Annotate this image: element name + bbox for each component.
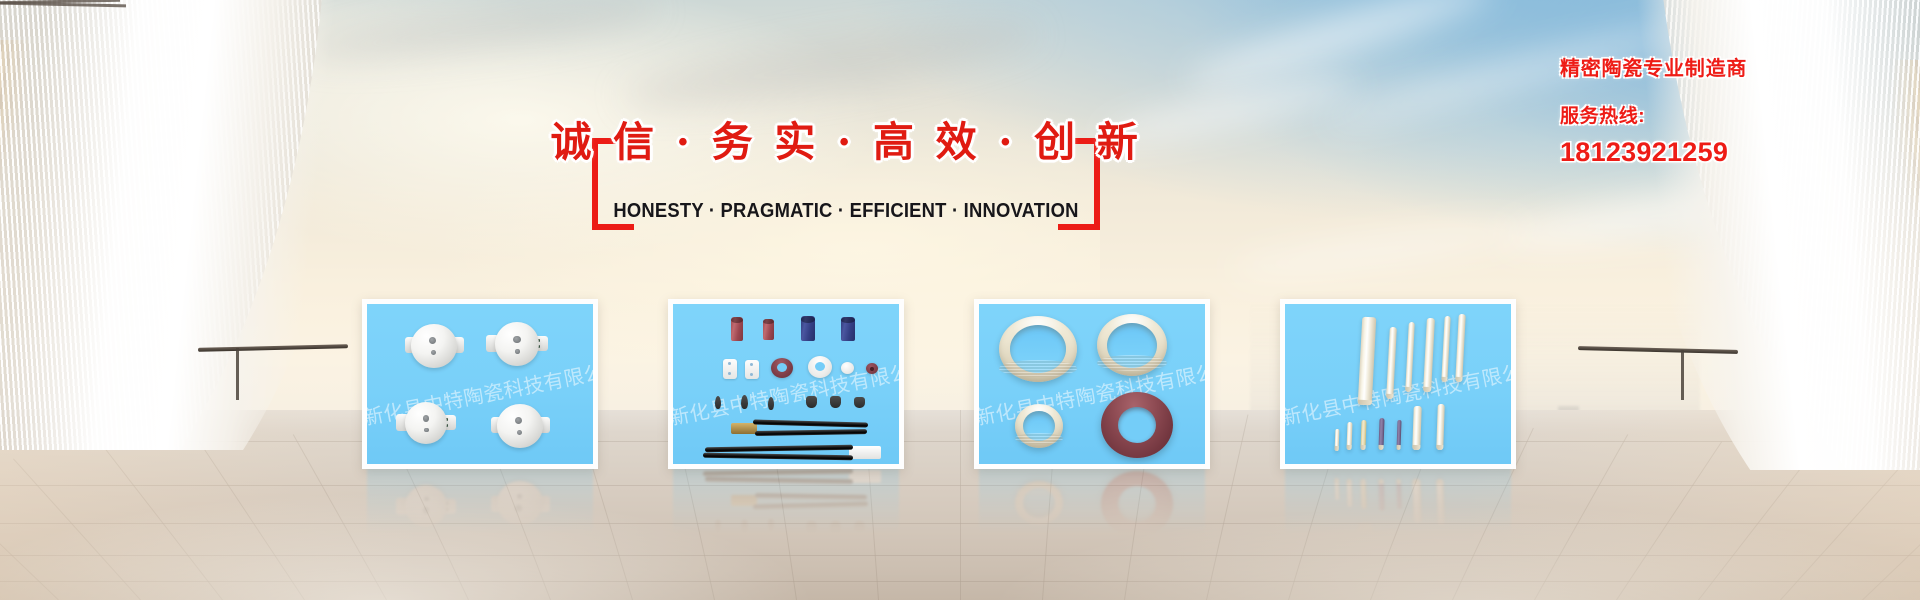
cable-connector-white: [849, 446, 881, 459]
ceramic-ring: [1097, 314, 1167, 376]
ceramic-tube: [731, 317, 743, 341]
ceramic-clip: [715, 396, 721, 409]
ceramic-clip: [768, 397, 774, 410]
cable-wire: [753, 419, 868, 427]
product-panel-rings[interactable]: 新化县中特陶瓷科技有限公司: [974, 299, 1210, 469]
plate-hole: [728, 362, 731, 365]
product-panel-tubes-cables[interactable]: 新化县中特陶瓷科技有限公司: [668, 299, 904, 469]
rod-tip: [1436, 445, 1443, 450]
ceramic-rod-small: [1378, 418, 1384, 450]
holder-body: [411, 324, 457, 368]
cable-connector: [731, 423, 757, 434]
rod-tip: [1412, 445, 1420, 450]
panel-watermark: 新化县中特陶瓷科技有限公司: [1285, 354, 1511, 431]
ceramic-plate: [723, 359, 737, 379]
ceramic-ring: [999, 316, 1077, 382]
product-panel-rods[interactable]: 新化县中特陶瓷科技有限公司: [1280, 299, 1516, 469]
rod-tip: [1347, 445, 1352, 450]
holder-hole: [423, 415, 430, 422]
rod-tip: [1378, 445, 1383, 450]
rod-tip: [1360, 445, 1365, 450]
ceramic-rod-small: [1396, 420, 1401, 450]
lamp-holder: [411, 324, 457, 368]
cable-wire: [705, 445, 853, 453]
product-panels: 新化县中特陶瓷科技有限公司 新化县中特陶瓷科技有限公司 新化县中特陶瓷科技有限公…: [0, 0, 1920, 600]
holder-body: [497, 404, 543, 448]
tube-bore: [801, 316, 815, 323]
ceramic-clip-wide: [830, 396, 841, 408]
ring-ridges: [999, 360, 1077, 377]
ceramic-clip-wide: [806, 396, 817, 408]
plate-hole: [750, 363, 753, 366]
ceramic-ring-maroon: [771, 358, 793, 378]
ring-bore: [777, 363, 787, 372]
ring-bore: [1118, 407, 1156, 443]
ceramic-rod-small: [1412, 406, 1422, 450]
ceramic-rod: [1455, 314, 1466, 382]
tube-bore: [731, 317, 743, 323]
plate-hole: [750, 373, 753, 376]
ceramic-clip: [741, 395, 748, 409]
cable-wire: [703, 453, 853, 461]
rod-tip: [1386, 394, 1393, 399]
ceramic-tube: [763, 319, 774, 340]
maroon-ceramic-ring: [1101, 392, 1173, 458]
rod-tip: [1405, 387, 1411, 392]
ceramic-clip-wide: [854, 397, 865, 408]
holder-body: [405, 402, 447, 444]
cable-assembly: [731, 419, 871, 437]
cable-assembly: [701, 444, 881, 460]
rod-tip: [1335, 446, 1339, 451]
ceramic-plate: [745, 360, 759, 379]
lamp-holder: [495, 322, 539, 366]
tube-bore: [841, 317, 855, 323]
holder-hole: [515, 349, 519, 353]
cable-wire: [755, 429, 867, 436]
ring-ridges: [1097, 355, 1167, 371]
ceramic-tube: [801, 316, 815, 341]
ceramic-disc-maroon: [866, 363, 878, 374]
ceramic-rod-small: [1436, 404, 1445, 450]
ceramic-ring: [1015, 404, 1063, 448]
lamp-holder: [497, 404, 543, 448]
plate-hole: [728, 372, 731, 375]
holder-hole: [424, 428, 428, 432]
ceramic-rod: [1405, 322, 1415, 392]
ring-ridges: [1015, 433, 1063, 444]
rod-tip: [1396, 445, 1400, 450]
ceramic-ring-white: [808, 356, 832, 378]
ceramic-rod: [1386, 327, 1397, 399]
holder-hole: [513, 336, 520, 343]
rod-tip: [1358, 400, 1372, 406]
ring-bore: [815, 362, 825, 371]
ceramic-rod: [1423, 318, 1435, 392]
disc-hole: [870, 367, 874, 371]
ceramic-disc: [841, 362, 854, 374]
ceramic-tube: [841, 317, 855, 341]
ceramic-rod-small: [1347, 422, 1353, 450]
ceramic-rod-small: [1360, 420, 1366, 450]
product-panel-lamp-holders[interactable]: 新化县中特陶瓷科技有限公司: [362, 299, 598, 469]
rod-tip: [1455, 377, 1462, 382]
lamp-holder: [405, 402, 447, 444]
tube-bore: [763, 319, 774, 324]
ceramic-rod: [1358, 317, 1377, 406]
rod-tip: [1441, 377, 1447, 382]
ceramic-rod-small: [1335, 429, 1340, 451]
rod-tip: [1423, 387, 1431, 392]
holder-hole: [515, 417, 522, 424]
holder-hole: [517, 430, 522, 435]
ceramic-rod: [1441, 316, 1450, 382]
holder-hole: [429, 337, 436, 344]
hero-banner: 诚 信 · 务 实 · 高 效 · 创 新 HONESTY · PRAGMATI…: [0, 0, 1920, 600]
holder-hole: [431, 350, 436, 355]
holder-body: [495, 322, 539, 366]
